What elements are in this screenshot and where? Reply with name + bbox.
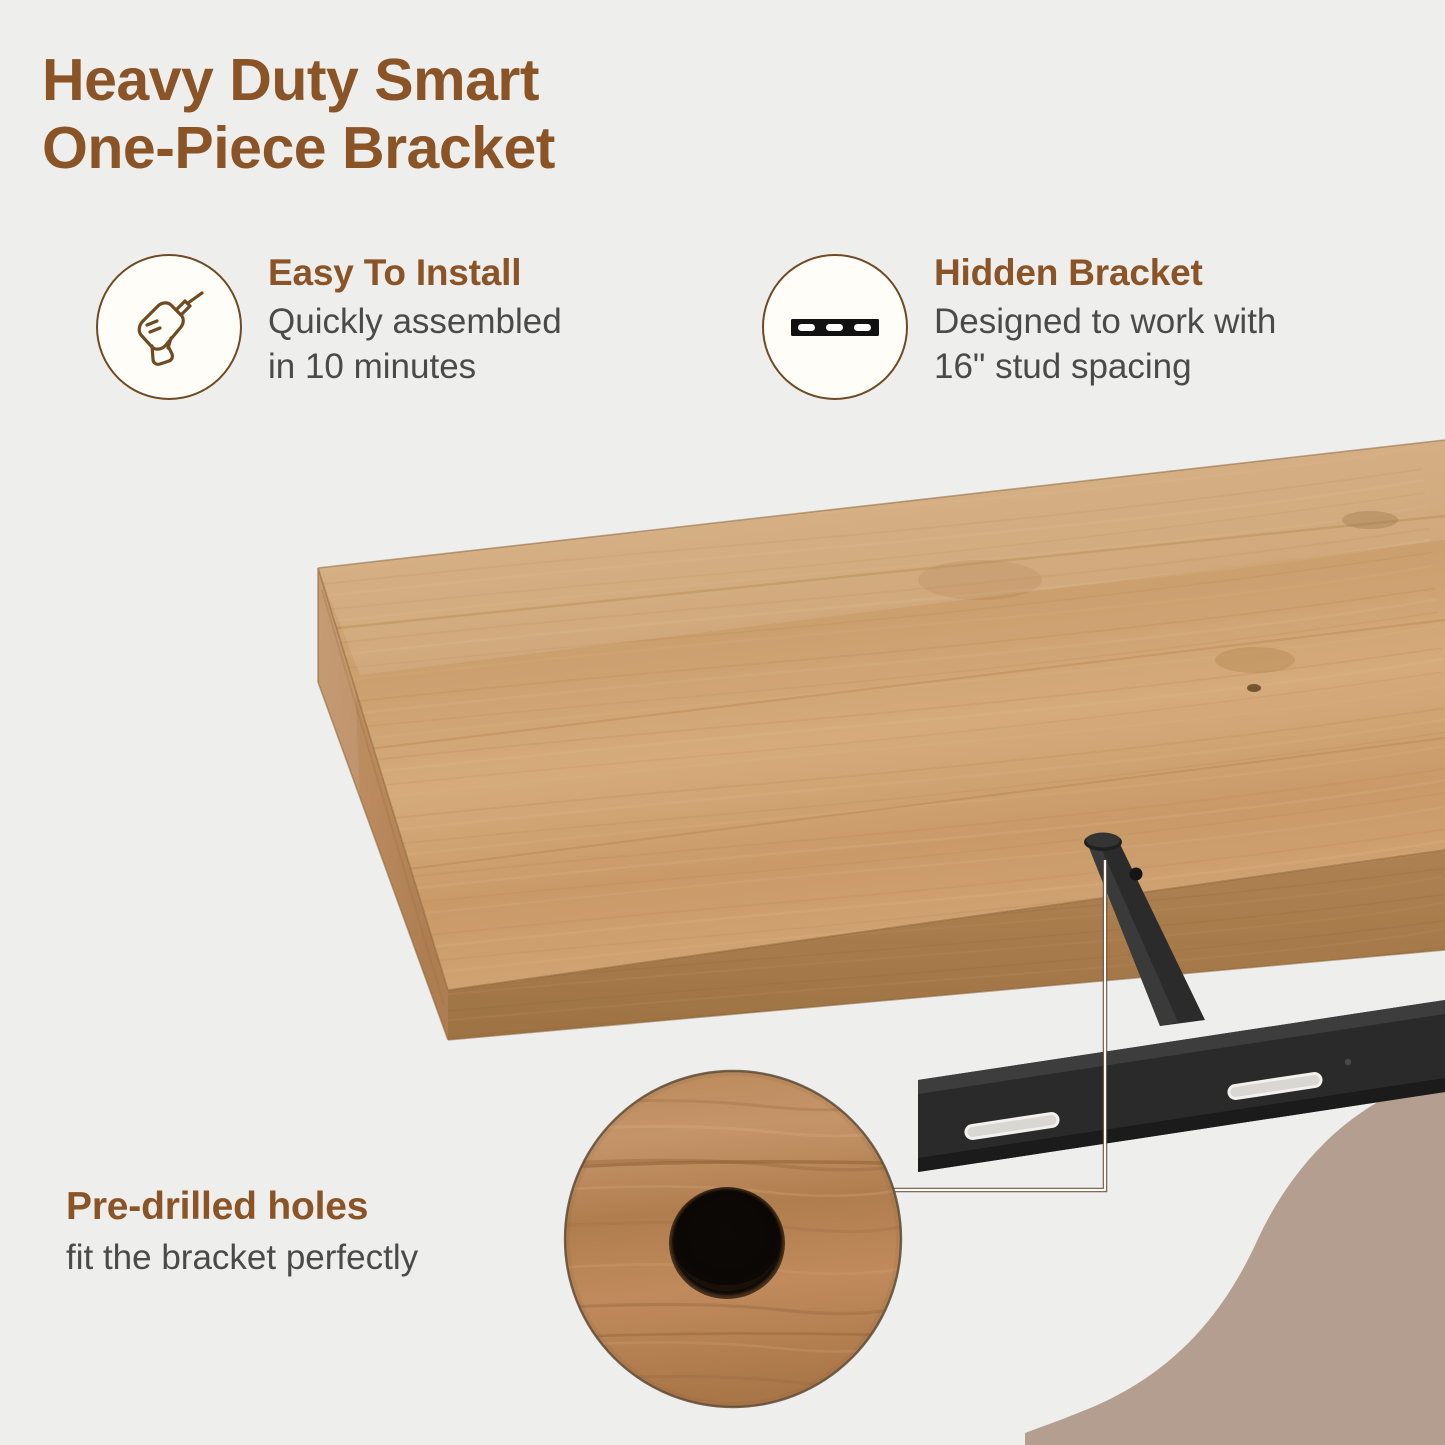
shelf-end-face <box>318 568 460 1040</box>
caption-description: fit the bracket perfectly <box>66 1237 566 1279</box>
feature-desc-line-2: 16" stud spacing <box>934 345 1276 390</box>
decorative-blob <box>1025 1045 1445 1445</box>
detail-photo <box>562 1068 904 1410</box>
feature-desc-line-2: in 10 minutes <box>268 345 562 390</box>
feature-text-block: Easy To Install Quickly assembled in 10 … <box>268 248 562 390</box>
product-photo <box>0 420 1445 1180</box>
caption-pre-drilled-holes: Pre-drilled holes fit the bracket perfec… <box>66 1186 566 1279</box>
feature-description: Designed to work with 16" stud spacing <box>934 300 1276 390</box>
product-feature-image: Heavy Duty Smart One-Piece Bracket Easy … <box>0 0 1445 1445</box>
shelf-outline <box>318 440 1445 1040</box>
headline-line-1: Heavy Duty Smart <box>42 47 539 113</box>
pre-drilled-hole-detail <box>562 1068 904 1410</box>
feature-desc-line-1: Designed to work with <box>934 300 1276 345</box>
feature-text-block: Hidden Bracket Designed to work with 16"… <box>934 248 1276 390</box>
feature-description: Quickly assembled in 10 minutes <box>268 300 562 390</box>
shelf-top-face <box>0 420 1445 1180</box>
page-title: Heavy Duty Smart One-Piece Bracket <box>42 46 862 183</box>
drilled-hole <box>669 1187 785 1299</box>
feature-easy-to-install: Easy To Install Quickly assembled in 10 … <box>96 248 696 400</box>
feature-title: Easy To Install <box>268 252 562 293</box>
bracket <box>918 833 1445 1173</box>
headline-line-2: One-Piece Bracket <box>42 114 862 182</box>
feature-hidden-bracket: Hidden Bracket Designed to work with 16"… <box>762 248 1402 400</box>
feature-desc-line-1: Quickly assembled <box>268 300 562 345</box>
bracket-rod <box>1084 833 1205 1027</box>
bracket-bar-icon <box>783 275 887 379</box>
feature-title: Hidden Bracket <box>934 252 1276 293</box>
caption-title: Pre-drilled holes <box>66 1186 566 1229</box>
bracket-plate <box>918 1000 1445 1172</box>
drill-icon <box>119 277 219 377</box>
bracket-bar-icon-badge <box>762 254 908 400</box>
drill-icon-badge <box>96 254 242 400</box>
